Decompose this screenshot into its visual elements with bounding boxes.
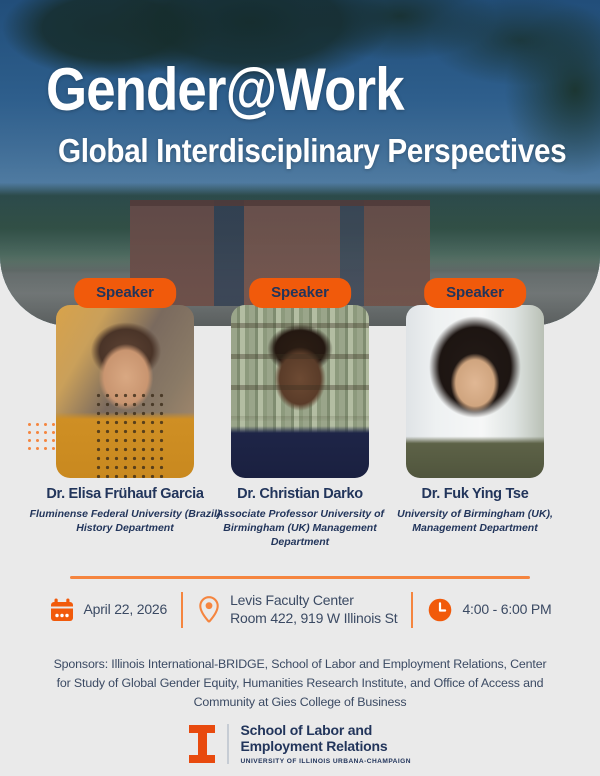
speaker-photo	[406, 305, 544, 478]
event-time: 4:00 - 6:00 PM	[427, 597, 551, 623]
institution-logo: School of Labor and Employment Relations…	[0, 723, 600, 765]
map-pin-icon	[197, 595, 221, 625]
dot	[52, 439, 55, 442]
dot	[52, 423, 55, 426]
dot	[28, 423, 31, 426]
dot	[44, 423, 47, 426]
dot	[28, 439, 31, 442]
dot	[36, 431, 39, 434]
sponsors-text: Sponsors: Illinois International-BRIDGE,…	[50, 655, 550, 713]
page-title: Gender@Work	[46, 60, 504, 120]
speaker-photo	[56, 305, 194, 478]
logo-line-2: Employment Relations	[241, 739, 411, 755]
hero-text-block: Gender@Work Global Interdisciplinary Per…	[46, 60, 566, 169]
dot	[44, 439, 47, 442]
event-poster: Gender@Work Global Interdisciplinary Per…	[0, 0, 600, 776]
detail-separator	[181, 592, 183, 628]
calendar-icon	[49, 597, 75, 623]
event-details-row: April 22, 2026 Levis Faculty Center Room…	[0, 592, 600, 628]
logo-line-1: School of Labor and	[241, 723, 411, 739]
page-subtitle: Global Interdisciplinary Perspectives	[58, 134, 515, 169]
speaker-affiliation: University of Birmingham (UK), Managemen…	[371, 508, 579, 536]
speaker-badge: Speaker	[249, 278, 351, 308]
logo-line-3: UNIVERSITY OF ILLINOIS URBANA-CHAMPAIGN	[241, 758, 411, 766]
dot	[36, 423, 39, 426]
event-date: April 22, 2026	[49, 597, 168, 623]
dot	[44, 431, 47, 434]
logo-divider	[227, 724, 229, 764]
speaker-badge: Speaker	[424, 278, 526, 308]
dot	[36, 447, 39, 450]
dot	[28, 447, 31, 450]
clock-icon	[427, 597, 453, 623]
event-time-text: 4:00 - 6:00 PM	[462, 601, 551, 619]
dot	[44, 447, 47, 450]
event-location: Levis Faculty Center Room 422, 919 W Ill…	[197, 592, 397, 628]
section-divider	[70, 576, 530, 579]
dot	[52, 431, 55, 434]
logo-wordmark: School of Labor and Employment Relations…	[241, 723, 411, 765]
dot	[36, 439, 39, 442]
speaker-badge: Speaker	[74, 278, 176, 308]
speaker-photo	[231, 305, 369, 478]
detail-separator	[411, 592, 413, 628]
dot	[52, 447, 55, 450]
event-date-text: April 22, 2026	[84, 601, 168, 619]
dot	[28, 431, 31, 434]
event-location-text: Levis Faculty Center Room 422, 919 W Ill…	[230, 592, 397, 628]
block-i-icon	[189, 725, 215, 763]
speaker-name: Dr. Fuk Ying Tse	[366, 486, 584, 502]
